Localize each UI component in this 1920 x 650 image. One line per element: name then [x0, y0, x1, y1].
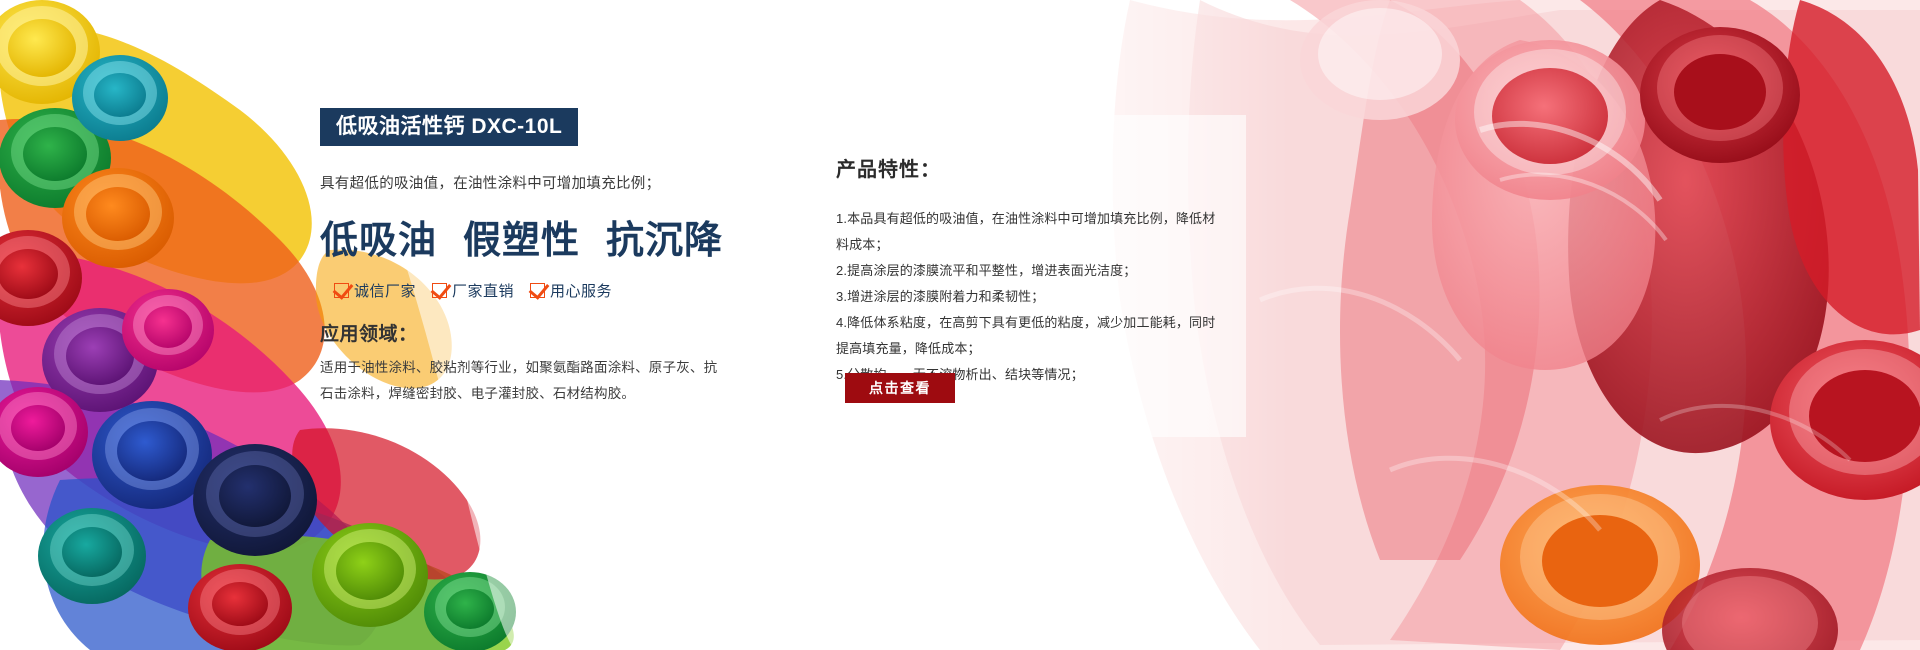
product-subtitle: 具有超低的吸油值，在油性涂料中可增加填充比例；: [320, 172, 780, 193]
trust-badge-label: 厂家直销: [452, 280, 514, 301]
trust-badge-label: 诚信厂家: [354, 280, 416, 301]
feature-item-3: 3.增进涂层的漆膜附着力和柔韧性；: [836, 284, 1220, 310]
page-title: 低吸油活性钙 DXC-10L: [320, 108, 578, 146]
trust-badge-list: 诚信厂家 厂家直销 用心服务: [334, 280, 780, 301]
check-square-icon: [432, 283, 447, 298]
keyword-2: 假塑性: [463, 220, 580, 262]
product-keywords: 低吸油假塑性抗沉降: [320, 209, 780, 264]
features-panel-title: 产品特性：: [836, 153, 1220, 182]
feature-item-2: 2.提高涂层的漆膜流平和平整性，增进表面光洁度；: [836, 258, 1220, 284]
feature-item-4: 4.降低体系粘度，在高剪下具有更低的粘度，减少加工能耗，同时提高填充量，降低成本…: [836, 310, 1220, 362]
trust-badge-label: 用心服务: [550, 280, 612, 301]
feature-item-1: 1.本品具有超低的吸油值，在油性涂料中可增加填充比例，降低材料成本；: [836, 206, 1220, 258]
trust-badge-factory-direct: 厂家直销: [432, 280, 514, 301]
application-body-text: 适用于油性涂料、胶粘剂等行业，如聚氨酯路面涂料、原子灰、抗石击涂料，焊缝密封胶、…: [320, 355, 720, 408]
application-heading: 应用领域：: [320, 319, 780, 346]
view-details-button[interactable]: 点击查看: [845, 373, 955, 403]
trust-badge-honest-manufacturer: 诚信厂家: [334, 280, 416, 301]
trust-badge-attentive-service: 用心服务: [530, 280, 612, 301]
keyword-3: 抗沉降: [606, 220, 723, 262]
check-square-icon: [530, 283, 545, 298]
check-square-icon: [334, 283, 349, 298]
product-banner: 低吸油活性钙 DXC-10L 具有超低的吸油值，在油性涂料中可增加填充比例； 低…: [0, 0, 1920, 650]
keyword-1: 低吸油: [320, 220, 437, 262]
product-info-column: 低吸油活性钙 DXC-10L 具有超低的吸油值，在油性涂料中可增加填充比例； 低…: [320, 108, 780, 408]
features-list: 1.本品具有超低的吸油值，在油性涂料中可增加填充比例，降低材料成本； 2.提高涂…: [836, 206, 1220, 388]
